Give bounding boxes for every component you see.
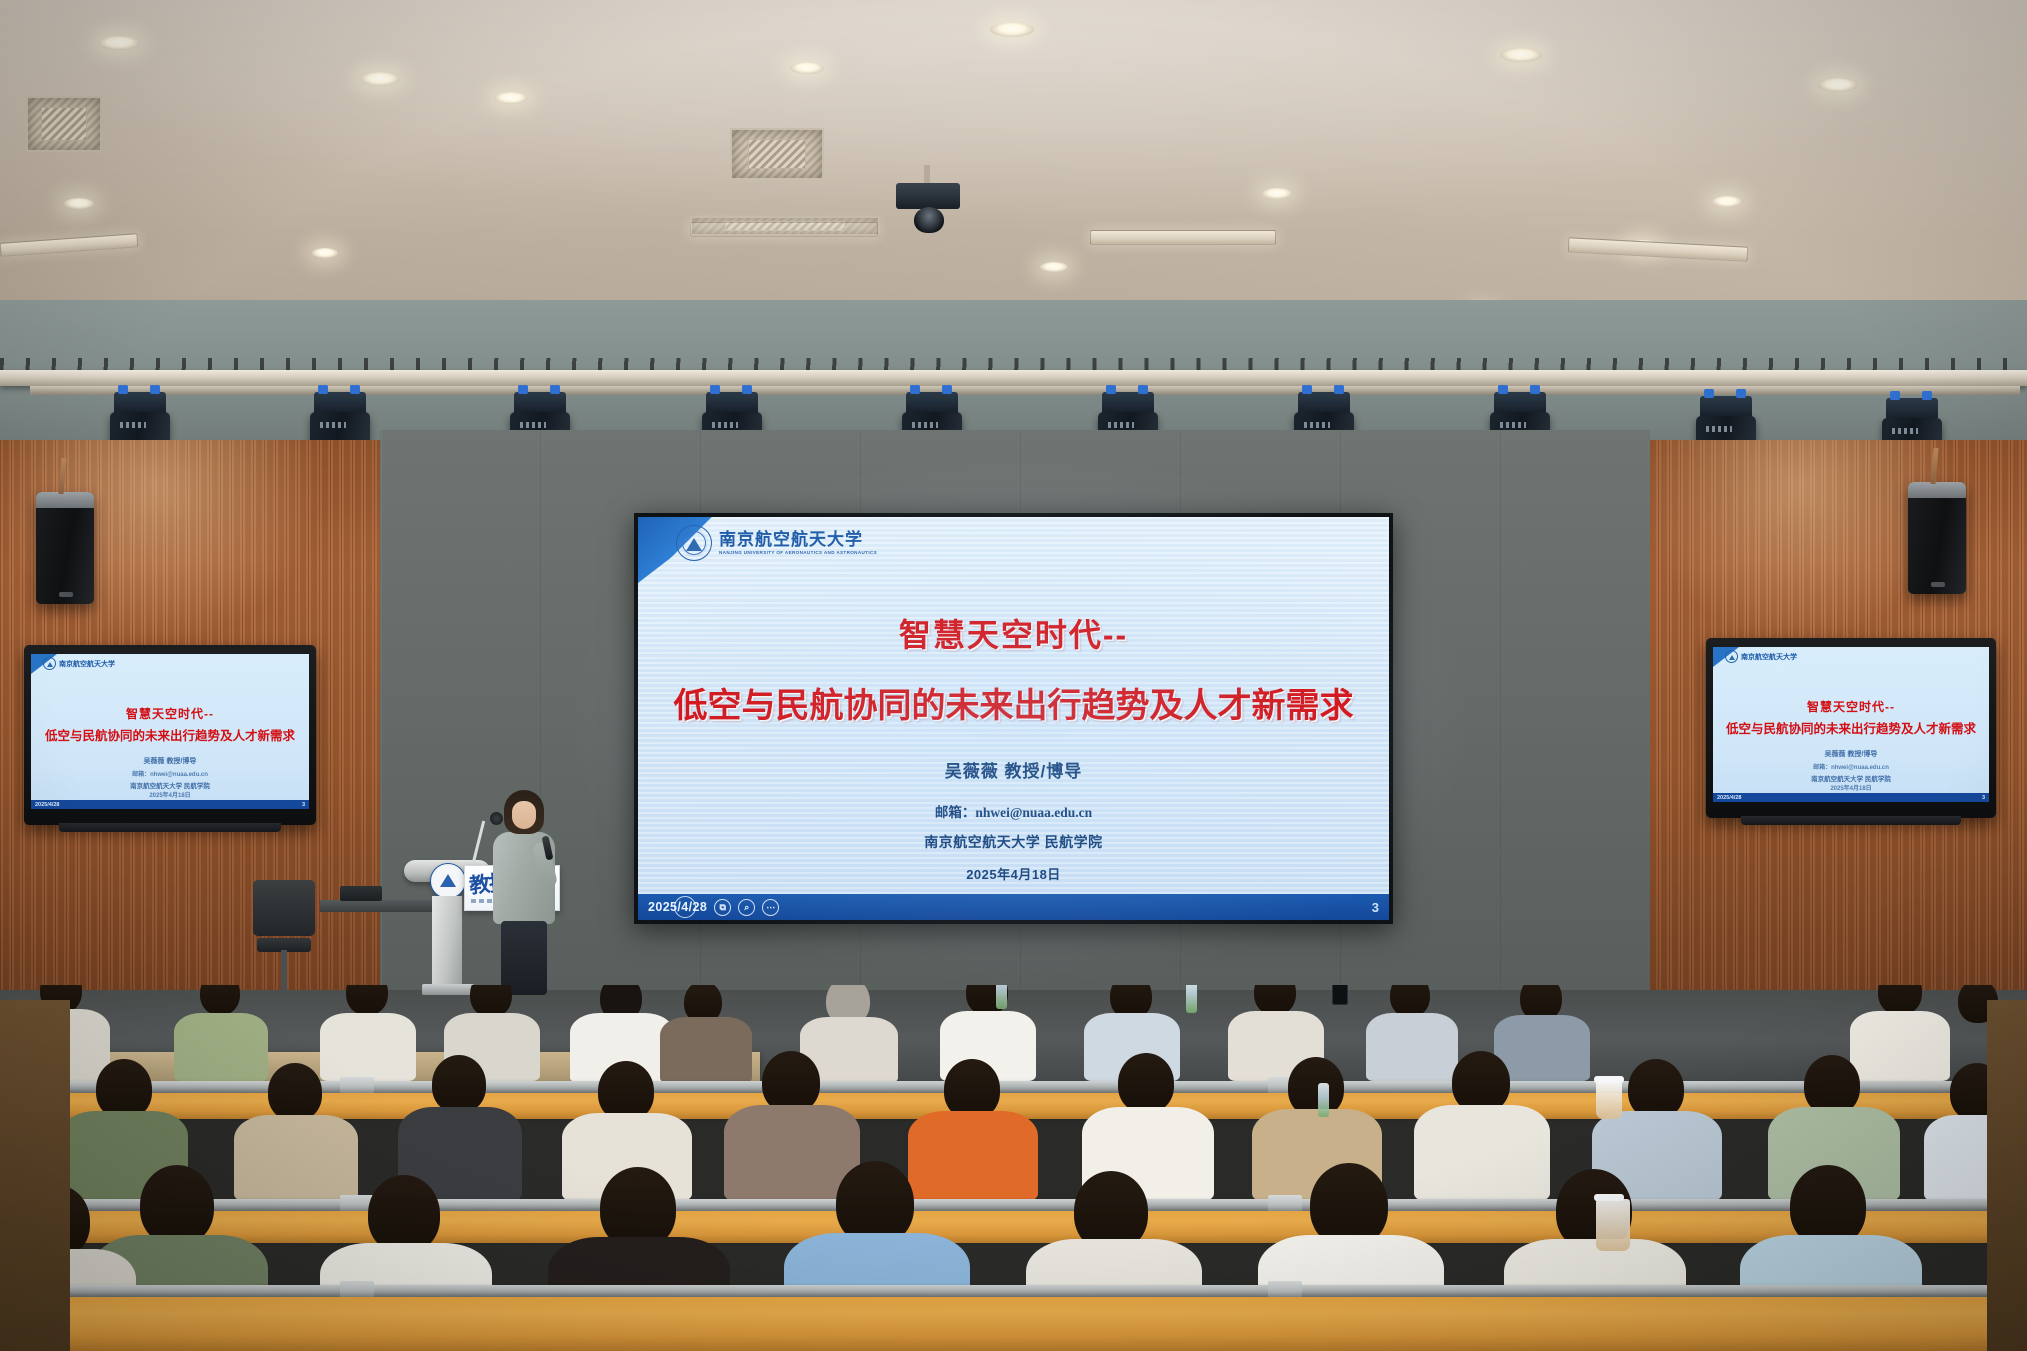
monitor-date: 2025年4月18日 [1713,783,1989,792]
floor-strip-left [0,1000,70,1351]
audience-head [1628,1059,1684,1119]
audience-body [908,1111,1038,1201]
side-monitor-right[interactable]: 南京航空航天大学 智慧天空时代-- 低空与民航协同的未来出行趋势及人才新需求 吴… [1706,638,1996,818]
monitor-affiliation: 南京航空航天大学 民航学院 [31,780,309,790]
desk-rail [0,1285,2027,1297]
university-name-en: NANJING UNIVERSITY OF AERONAUTICS AND AS… [719,551,877,556]
monitor-email: 邮箱：nhwei@nuaa.edu.cn [31,769,309,778]
downlight [64,198,94,209]
air-diffuser [26,96,102,152]
slot-light [1090,230,1276,245]
monitor-logo-left: 南京航空航天大学 [43,657,115,670]
air-diffuser [730,128,824,180]
monitor-bezel-right: 南京航空航天大学 智慧天空时代-- 低空与民航协同的未来出行趋势及人才新需求 吴… [1706,638,1996,818]
presenter [487,790,559,995]
audience-head [762,1051,820,1113]
monitor-speaker-name: 吴薇薇 教授/博导 [1713,749,1989,759]
lecture-hall-photo: 南京航空航天大学 智慧天空时代-- 低空与民航协同的未来出行趋势及人才新需求 吴… [0,0,2027,1351]
audience-body [1366,1013,1458,1081]
monitor-page-number: 3 [302,802,305,808]
monitor-bottom-bar-right: 2025/4/28 3 [1713,793,1989,802]
air-diffuser [690,216,880,236]
audience-head [1452,1051,1510,1113]
status-bar-date: 2025/4/28 [648,900,707,914]
audience-body [174,1013,268,1081]
audience-head [346,985,388,1015]
monitor-affiliation: 南京航空航天大学 民航学院 [1713,773,1989,783]
slide-speaker-block: 吴薇薇 教授/博导 邮箱：nhwei@nuaa.edu.cn 南京航空航天大学 … [638,757,1389,883]
presentation-slide: 南京航空航天大学 NANJING UNIVERSITY OF AERONAUTI… [638,517,1389,920]
monitor-screen-left: 南京航空航天大学 智慧天空时代-- 低空与民航协同的未来出行趋势及人才新需求 吴… [31,654,309,809]
monitor-date: 2025年4月18日 [31,790,309,799]
university-name-cn: 南京航空航天大学 [719,531,877,548]
slide-title-line1: 智慧天空时代-- [638,610,1389,656]
laptop [340,886,382,901]
water-bottle [1318,1083,1329,1117]
nuaa-seal-icon [1725,650,1738,663]
water-bottle [1186,985,1197,1013]
audience-head [200,985,240,1015]
downlight [494,92,528,104]
audience-body [320,1013,416,1081]
audience-body [234,1115,358,1201]
audience-head [598,1061,654,1121]
nuaa-seal-icon [676,525,712,561]
drink-cup [1596,1081,1622,1119]
floor-strip-right [1987,1000,2027,1351]
audience-body [1414,1105,1550,1201]
monitor-title-line1: 智慧天空时代-- [31,705,309,722]
desk-surface [0,1297,2027,1351]
monitor-email: 邮箱：nhwei@nuaa.edu.cn [1713,762,1989,771]
audience-head [432,1055,486,1113]
lighting-truss [0,370,2027,386]
slide-title-block: 智慧天空时代-- 低空与民航协同的未来出行趋势及人才新需求 [638,610,1389,727]
water-bottle [996,985,1007,1009]
monitor-page-number: 3 [1982,795,1985,801]
monitor-speaker-name: 吴薇薇 教授/博导 [31,756,309,766]
wall-speaker-right [1908,482,1966,594]
stage-chair [253,880,315,992]
monitor-bar-date: 2025/4/28 [1717,795,1741,801]
podium-column [432,896,462,986]
audience-seating [0,985,2027,1351]
monitor-logo-right: 南京航空航天大学 [1725,650,1797,663]
slide-page-number: 3 [1372,900,1379,915]
speaker-email-line: 邮箱：nhwei@nuaa.edu.cn [638,801,1389,821]
audience-head [1804,1055,1860,1115]
podium-seal-icon [430,863,466,899]
monitor-bezel-left: 南京航空航天大学 智慧天空时代-- 低空与民航协同的未来出行趋势及人才新需求 吴… [24,645,316,825]
audience-head [368,1175,440,1253]
audience-head [140,1165,214,1245]
monitor-screen-right: 南京航空航天大学 智慧天空时代-- 低空与民航协同的未来出行趋势及人才新需求 吴… [1713,647,1989,802]
desk-rail [0,1199,2027,1211]
monitor-university-name: 南京航空航天大学 [59,659,115,669]
downlight [990,22,1034,37]
slide-date: 2025年4月18日 [638,864,1389,883]
audience-body [660,1017,752,1083]
monitor-title-line1: 智慧天空时代-- [1713,698,1989,715]
audience-head [1118,1053,1174,1113]
projector-mount [924,165,930,185]
downlight [1500,48,1542,62]
more-options-icon[interactable]: ⋯ [762,899,779,916]
downlight [360,72,400,86]
downlight [312,248,338,258]
monitor-title-line2: 低空与民航协同的未来出行趋势及人才新需求 [31,725,309,744]
monitor-title-line2: 低空与民航协同的未来出行趋势及人才新需求 [1713,718,1989,737]
monitor-stand-left [59,823,281,832]
drink-cup [1596,1199,1630,1251]
search-icon[interactable]: ⌕ [738,899,755,916]
monitor-bar-date: 2025/4/28 [35,802,59,808]
audience-head [268,1063,322,1121]
phone [1332,985,1348,1005]
ceiling-projector [896,183,960,235]
downlight [1040,262,1068,272]
desk-surface [0,1211,2027,1243]
projector-body [896,183,960,209]
screen-layout-icon[interactable]: ⧉ [714,899,731,916]
audience-head [96,1059,152,1119]
monitor-university-name: 南京航空航天大学 [1741,652,1797,662]
slide-logo: 南京航空航天大学 NANJING UNIVERSITY OF AERONAUTI… [676,525,877,561]
monitor-bottom-bar-left: 2025/4/28 3 [31,800,309,809]
downlight [1818,78,1858,92]
slide-status-bar: 2025/4/28 ⧉ ⌕ ⋯ 3 [638,894,1389,920]
downlight [790,62,824,74]
downlight [1712,196,1742,207]
audience-head [1288,1057,1344,1117]
downlight [98,36,140,50]
nuaa-seal-icon [43,657,56,670]
wall-speaker-left [36,492,94,604]
audience-head [944,1059,1000,1119]
monitor-stand-right [1741,816,1961,825]
speaker-affiliation: 南京航空航天大学 民航学院 [638,832,1389,852]
slide-title-line2: 低空与民航协同的未来出行趋势及人才新需求 [638,678,1389,727]
email-value: nhwei@nuaa.edu.cn [975,805,1092,820]
main-led-screen[interactable]: 南京航空航天大学 NANJING UNIVERSITY OF AERONAUTI… [634,513,1393,924]
downlight [1262,188,1292,199]
projector-lens-icon [914,207,944,233]
audience-body [1850,1011,1950,1081]
speaker-name: 吴薇薇 教授/博导 [638,757,1389,782]
email-label: 邮箱： [935,805,976,820]
side-monitor-left[interactable]: 南京航空航天大学 智慧天空时代-- 低空与民航协同的未来出行趋势及人才新需求 吴… [24,645,316,825]
